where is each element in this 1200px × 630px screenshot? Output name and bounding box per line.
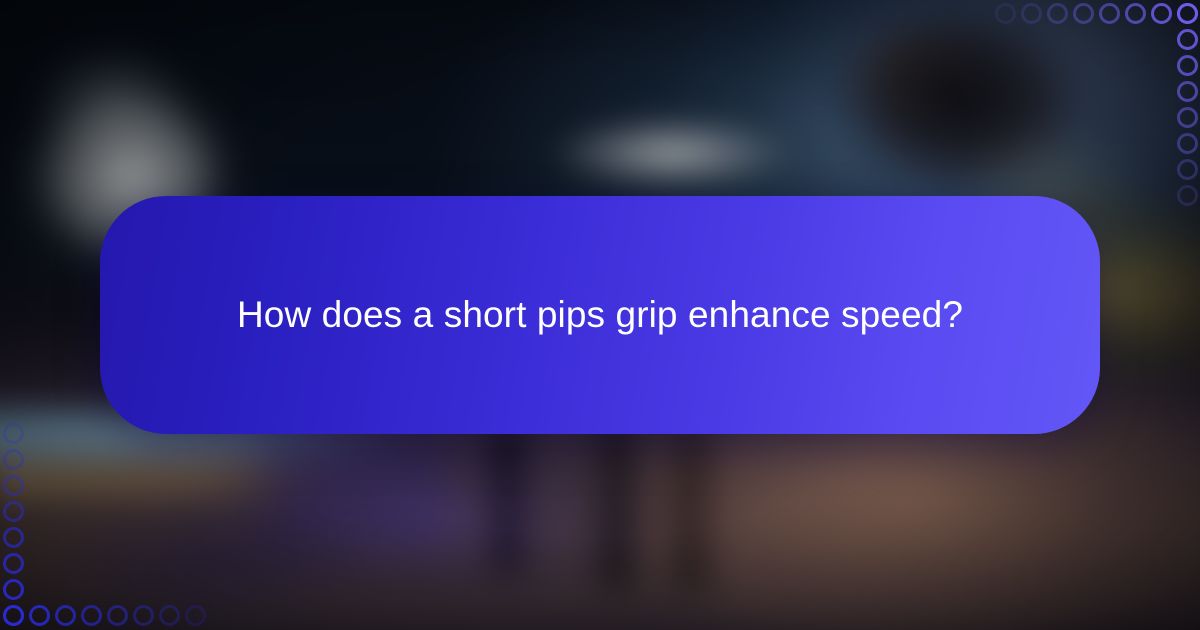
circle-outline-icon: [995, 3, 1016, 24]
circle-outline-icon: [3, 579, 24, 600]
circle-outline-icon: [3, 605, 24, 626]
screenshot-canvas: How does a short pips grip enhance speed…: [0, 0, 1200, 630]
circle-outline-icon: [1177, 107, 1198, 128]
circle-outline-icon: [185, 605, 206, 626]
circle-outline-icon: [81, 605, 102, 626]
decoration-dots-top-row: [990, 0, 1200, 30]
circle-outline-icon: [1177, 55, 1198, 76]
circle-outline-icon: [1125, 3, 1146, 24]
circle-outline-icon: [1177, 3, 1198, 24]
circle-outline-icon: [1177, 159, 1198, 180]
circle-outline-icon: [29, 605, 50, 626]
question-text: How does a short pips grip enhance speed…: [181, 292, 1019, 339]
circle-outline-icon: [1151, 3, 1172, 24]
circle-outline-icon: [1177, 81, 1198, 102]
circle-outline-icon: [133, 605, 154, 626]
circle-outline-icon: [3, 553, 24, 574]
decoration-dots-bottom-row: [0, 600, 230, 630]
question-card[interactable]: How does a short pips grip enhance speed…: [100, 196, 1100, 434]
circle-outline-icon: [159, 605, 180, 626]
circle-outline-icon: [1021, 3, 1042, 24]
circle-outline-icon: [107, 605, 128, 626]
circle-outline-icon: [1099, 3, 1120, 24]
circle-outline-icon: [3, 423, 24, 444]
circle-outline-icon: [1073, 3, 1094, 24]
circle-outline-icon: [3, 449, 24, 470]
circle-outline-icon: [3, 475, 24, 496]
circle-outline-icon: [1177, 185, 1198, 206]
circle-outline-icon: [55, 605, 76, 626]
decoration-dots-left-column: [0, 410, 30, 630]
circle-outline-icon: [3, 501, 24, 522]
decoration-dots-right-column: [1170, 0, 1200, 220]
circle-outline-icon: [1047, 3, 1068, 24]
circle-outline-icon: [1177, 133, 1198, 154]
circle-outline-icon: [1177, 29, 1198, 50]
circle-outline-icon: [3, 527, 24, 548]
